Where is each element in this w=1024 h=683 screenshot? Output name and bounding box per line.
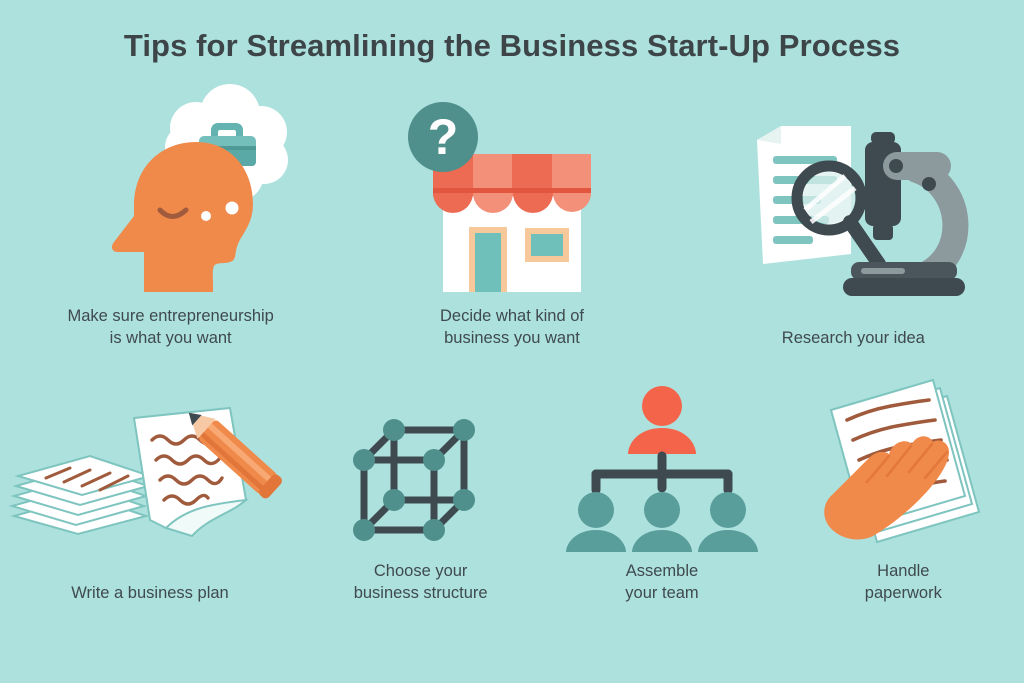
tip-caption: Choose your business structure [354,561,488,605]
cube-svg [346,382,496,547]
svg-text:?: ? [428,109,459,165]
tip-team[interactable]: Assemble your team [541,375,782,605]
cube-nodes [353,419,475,541]
tip-caption: Write a business plan [71,583,228,605]
paperwork-svg [813,382,993,547]
storefront-question-mark-icon: ? [407,92,617,292]
cube-edges [364,430,464,530]
tip-research[interactable]: Research your idea [683,85,1024,350]
papers-pencil-icon [0,404,300,569]
paper-stack [12,456,150,534]
question-mark-badge: ? [408,102,478,172]
org-chart-people-icon [572,382,752,547]
org-chart-svg [572,382,752,547]
team-member-figure [698,492,758,552]
research-svg [733,114,973,314]
shop-window [525,228,569,262]
head-silhouette [112,142,253,292]
hand-on-papers-icon [813,382,993,547]
infographic-canvas: Tips for Streamlining the Business Start… [0,0,1024,683]
tip-entrepreneurship[interactable]: Make sure entrepreneurship is what you w… [0,85,341,350]
papers-pencil-svg [0,404,300,569]
page-title: Tips for Streamlining the Business Start… [0,28,1024,64]
tip-caption: Make sure entrepreneurship is what you w… [67,306,273,350]
tip-business-kind[interactable]: ? Decide what kind of business you want [341,85,682,350]
leader-figure [628,386,696,454]
written-sheet [134,408,246,536]
tips-row-top: Make sure entrepreneurship is what you w… [0,85,1024,350]
tip-business-plan[interactable]: Write a business plan [0,375,300,605]
tip-paperwork[interactable]: Handle paperwork [783,375,1024,605]
team-member-figure [566,492,626,552]
tip-caption: Decide what kind of business you want [440,306,584,350]
org-connectors [596,456,728,490]
wireframe-cube-icon [346,382,496,547]
shop-door [469,227,507,292]
thinking-head-briefcase-svg [56,92,286,292]
tips-row-bottom: Write a business plan [0,375,1024,605]
tip-caption: Handle paperwork [865,561,942,605]
tip-caption: Research your idea [782,328,925,350]
team-member-figure [632,492,692,552]
document-magnifier-microscope-icon [733,114,973,314]
tip-caption: Assemble your team [625,561,698,605]
thinking-head-briefcase-icon [56,92,286,292]
tip-business-structure[interactable]: Choose your business structure [300,375,541,605]
storefront-svg: ? [407,92,617,292]
